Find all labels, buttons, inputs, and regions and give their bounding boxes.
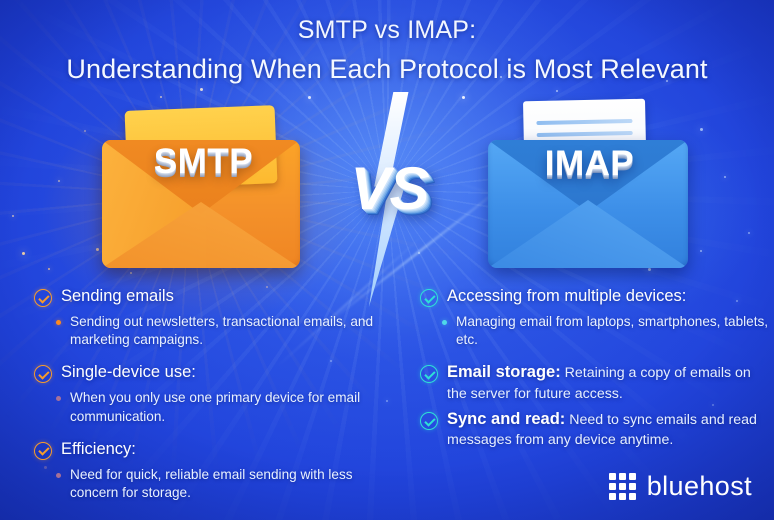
benefit-heading-text: Sync and read:	[447, 410, 565, 428]
benefit-item: Accessing from multiple devices:Managing…	[420, 286, 770, 349]
header: SMTP vs IMAP: Understanding When Each Pr…	[0, 16, 774, 85]
sparkle-dot	[462, 96, 465, 99]
benefit-subitem-text: Managing email from laptops, smartphones…	[456, 313, 770, 349]
benefit-heading-row: Single-device use:	[34, 362, 394, 383]
benefit-heading-row: Efficiency:	[34, 439, 394, 460]
benefit-item: Email storage: Retaining a copy of email…	[420, 362, 770, 403]
benefit-subitem-text: Sending out newsletters, transactional e…	[70, 313, 394, 349]
letter-text-line	[537, 131, 633, 137]
check-circle-icon	[34, 365, 52, 383]
page-title-line-2: Understanding When Each Protocol is Most…	[0, 54, 774, 85]
bullet-dot-icon	[56, 396, 61, 401]
benefit-subitem-row: Sending out newsletters, transactional e…	[56, 313, 394, 349]
sparkle-dot	[700, 128, 703, 131]
sparkle-dot	[556, 90, 558, 92]
benefit-heading: Email storage: Retaining a copy of email…	[447, 362, 770, 403]
sparkle-dot	[12, 215, 14, 217]
letter-text-line	[536, 119, 632, 125]
benefit-heading: Single-device use:	[61, 362, 196, 382]
benefit-subitem-text: When you only use one primary device for…	[70, 389, 394, 425]
sparkle-dot	[58, 180, 60, 182]
benefit-subitem-row: Need for quick, reliable email sending w…	[56, 466, 394, 502]
sparkle-dot	[724, 176, 726, 178]
benefit-item: Sync and read: Need to sync emails and r…	[420, 409, 770, 450]
benefit-heading-row: Email storage: Retaining a copy of email…	[420, 362, 770, 403]
benefit-heading: Sending emails	[61, 286, 174, 306]
benefit-heading: Accessing from multiple devices:	[447, 286, 686, 306]
smtp-envelope-graphic: SMTP	[96, 104, 311, 274]
sparkle-dot	[748, 232, 750, 234]
check-circle-icon	[34, 289, 52, 307]
smtp-label: SMTP	[96, 142, 311, 182]
versus-badge: VS	[327, 92, 452, 307]
bluehost-logo[interactable]: bluehost	[609, 471, 752, 502]
benefit-heading-text: Accessing from multiple devices:	[447, 287, 686, 305]
benefit-subitem-text: Need for quick, reliable email sending w…	[70, 466, 394, 502]
bullet-dot-icon	[56, 320, 61, 325]
benefit-heading-row: Sync and read: Need to sync emails and r…	[420, 409, 770, 450]
benefit-heading: Sync and read: Need to sync emails and r…	[447, 409, 770, 450]
bullet-dot-icon	[442, 320, 447, 325]
bluehost-grid-logo-icon	[609, 473, 636, 500]
sparkle-dot	[84, 130, 86, 132]
check-circle-icon	[420, 365, 438, 383]
benefit-item: Single-device use:When you only use one …	[34, 362, 394, 425]
sparkle-dot	[48, 268, 50, 270]
sparkle-dot	[700, 250, 702, 252]
sparkle-dot	[22, 252, 25, 255]
check-circle-icon	[420, 412, 438, 430]
imap-label: IMAP	[482, 144, 697, 184]
check-circle-icon	[34, 442, 52, 460]
benefit-subitem-row: When you only use one primary device for…	[56, 389, 394, 425]
page-title-line-1: SMTP vs IMAP:	[0, 16, 774, 45]
benefit-heading-text: Single-device use:	[61, 363, 196, 381]
imap-envelope-graphic: IMAP	[482, 100, 697, 275]
imap-benefits-column: Accessing from multiple devices:Managing…	[420, 286, 770, 456]
sparkle-dot	[200, 88, 203, 91]
benefit-heading: Efficiency:	[61, 439, 136, 459]
sparkle-dot	[308, 96, 311, 99]
infographic-poster: SMTP vs IMAP: Understanding When Each Pr…	[0, 0, 774, 520]
versus-label: VS	[327, 154, 452, 223]
benefit-heading-text: Sending emails	[61, 287, 174, 305]
brand-name: bluehost	[647, 471, 752, 502]
bullet-dot-icon	[56, 473, 61, 478]
sparkle-dot	[160, 96, 162, 98]
benefit-heading-text: Email storage:	[447, 363, 561, 381]
benefit-item: Efficiency:Need for quick, reliable emai…	[34, 439, 394, 502]
benefit-heading-text: Efficiency:	[61, 440, 136, 458]
benefit-subitem-row: Managing email from laptops, smartphones…	[442, 313, 770, 349]
benefit-heading-row: Accessing from multiple devices:	[420, 286, 770, 307]
smtp-benefits-column: Sending emailsSending out newsletters, t…	[34, 286, 394, 515]
